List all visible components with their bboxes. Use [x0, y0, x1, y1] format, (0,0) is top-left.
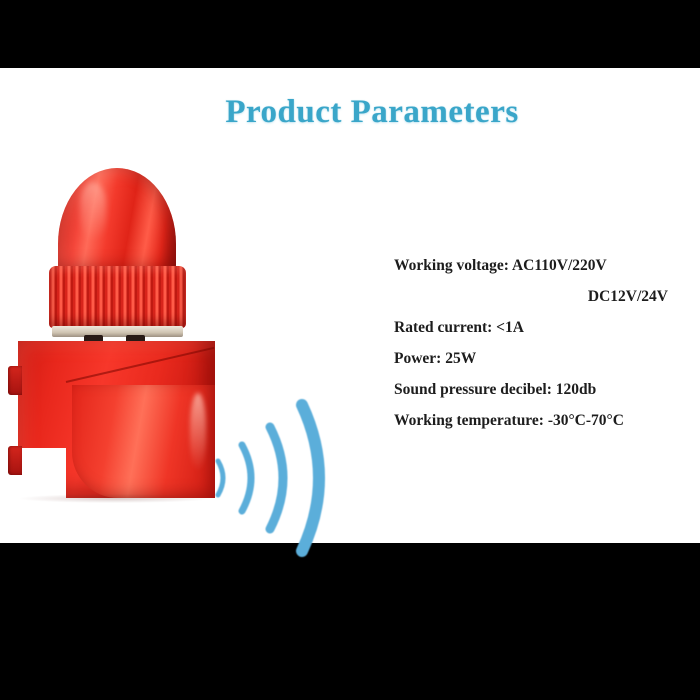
product-image — [0, 163, 230, 503]
sound-wave-arc-2 — [242, 445, 251, 511]
letterbox-bar-top — [0, 0, 700, 68]
mounting-tab-lower — [8, 446, 22, 475]
page-title: Product Parameters — [0, 94, 700, 131]
beacon-dome-lamp — [58, 168, 176, 273]
housing-notch — [18, 448, 66, 498]
specification-list: Working voltage: AC110V/220V DC12V/24V R… — [394, 250, 668, 436]
image-canvas: Product Parameters — [0, 0, 700, 700]
spec-working-voltage-ac: Working voltage: AC110V/220V — [394, 250, 668, 281]
sound-wave-arcs — [212, 393, 342, 563]
product-drop-shadow — [20, 494, 210, 503]
letterbox-bar-bottom — [0, 543, 700, 700]
sound-wave-arc-4 — [302, 405, 319, 551]
spec-sound-pressure: Sound pressure decibel: 120db — [394, 374, 668, 405]
sound-wave-arc-3 — [270, 427, 283, 529]
product-info-panel: Product Parameters — [0, 68, 700, 543]
page-title-text: Product Parameters — [225, 94, 518, 131]
spec-rated-current: Rated current: <1A — [394, 312, 668, 343]
mounting-tab-upper — [8, 366, 22, 395]
siren-horn-flare — [72, 385, 215, 498]
sound-wave-arc-1 — [218, 461, 223, 495]
beacon-base-plate — [52, 326, 183, 337]
spec-working-voltage-dc: DC12V/24V — [394, 281, 668, 312]
spec-power: Power: 25W — [394, 343, 668, 374]
beacon-ribbed-collar — [49, 266, 186, 328]
spec-working-temperature: Working temperature: -30°C-70°C — [394, 405, 668, 436]
